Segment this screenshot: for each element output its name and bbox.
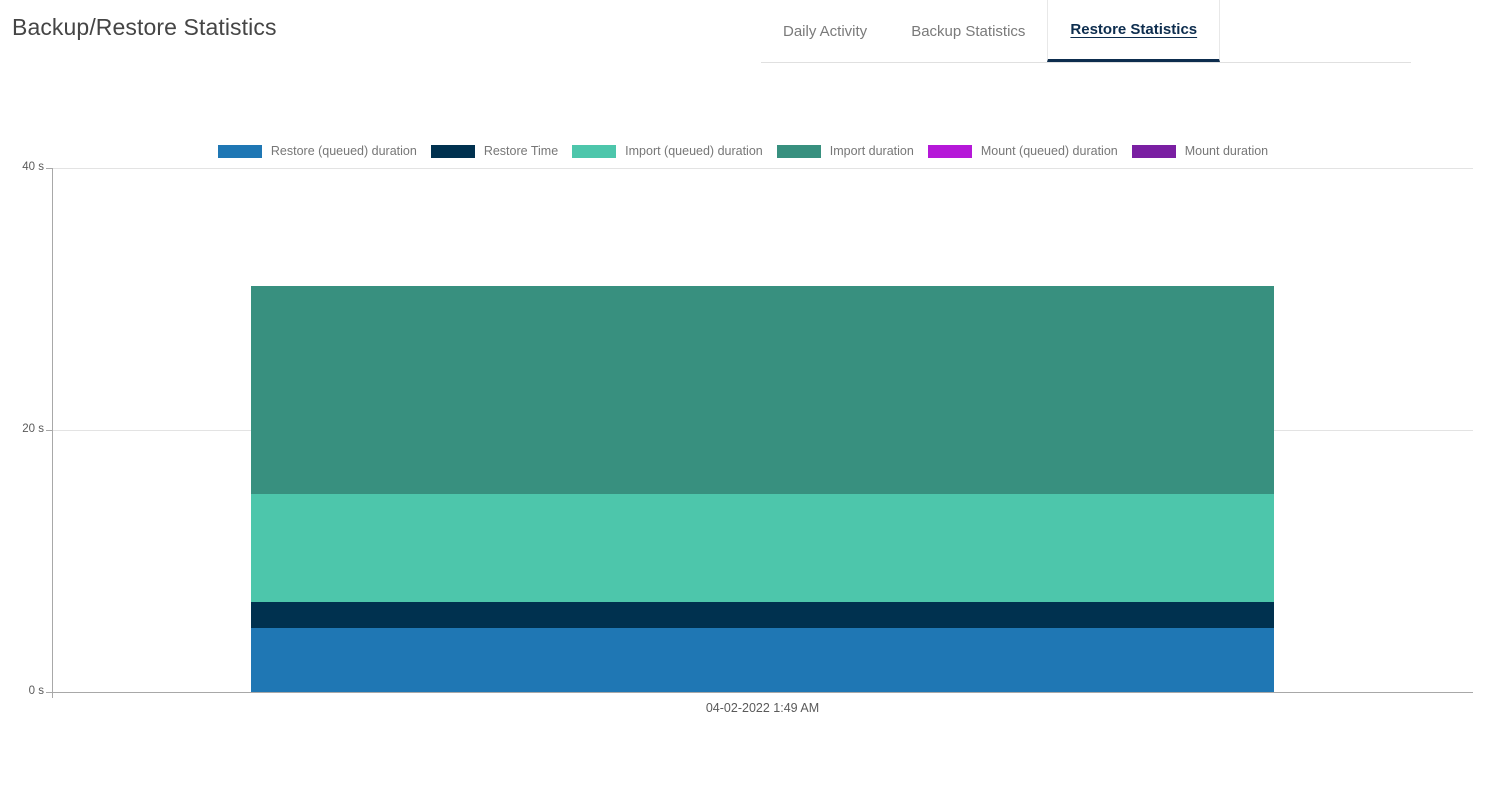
x-axis-tick-label: 04-02-2022 1:49 AM [706, 701, 819, 715]
bar-segment[interactable] [251, 286, 1274, 494]
bar-segment[interactable] [251, 494, 1274, 601]
bar-segment[interactable] [251, 628, 1274, 692]
plot-area [52, 168, 1473, 692]
grid-line [52, 168, 1473, 169]
y-axis-line [52, 168, 53, 698]
restore-statistics-chart: 0 s20 s40 s 04-02-2022 1:49 AM [0, 0, 1486, 809]
stacked-bar[interactable] [251, 286, 1274, 692]
y-axis-tick-mark [46, 692, 52, 693]
y-axis-tick-mark [46, 430, 52, 431]
y-axis-tick-label: 0 s [0, 685, 44, 697]
backup-restore-statistics-page: Backup/Restore Statistics Daily Activity… [0, 0, 1486, 809]
x-axis-line [52, 692, 1473, 693]
bar-segment[interactable] [251, 602, 1274, 628]
y-axis-tick-mark [46, 168, 52, 169]
y-axis-tick-label: 40 s [0, 161, 44, 173]
y-axis-tick-label: 20 s [0, 423, 44, 435]
